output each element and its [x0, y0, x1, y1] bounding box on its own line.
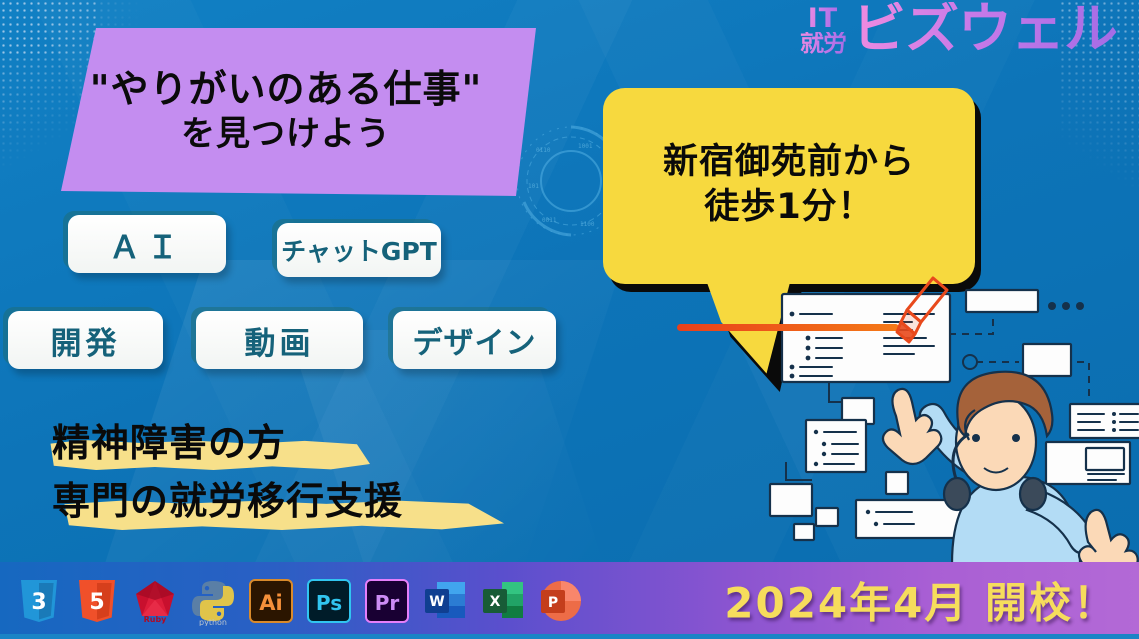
brand-logo: IT 就労 ビズウェル — [800, 2, 1117, 56]
svg-text:5: 5 — [89, 590, 104, 615]
speech-bubble-line-2: 徒歩1分！ — [704, 184, 873, 231]
svg-text:Ai: Ai — [259, 591, 282, 615]
highlighter-pen-icon — [893, 272, 951, 348]
marker-headline-line-1: 精神障害の方 — [52, 412, 286, 467]
python-icon: python — [188, 576, 238, 626]
promo-banner: 01101001 010101 00111100 IT 就労 ビズウェル "やり… — [0, 0, 1139, 639]
logo-it-text: IT — [808, 6, 838, 32]
svg-text:Ps: Ps — [316, 591, 342, 615]
tag-douga[interactable]: 動画 — [196, 311, 363, 369]
bottom-accent-line — [0, 634, 1139, 639]
speech-bubble: 新宿御苑前から 徒歩1分！ — [601, 86, 983, 366]
speech-bubble-underline — [677, 324, 899, 331]
svg-text:Ruby: Ruby — [144, 615, 168, 624]
svg-text:0110: 0110 — [536, 147, 551, 154]
opening-date-text: 2024年4月 開校！ — [724, 569, 1117, 630]
logo-main-text: ビズウェル — [852, 2, 1117, 56]
microsoft-powerpoint-icon: P — [536, 576, 586, 626]
svg-text:1001: 1001 — [578, 143, 593, 150]
ruby-icon: Ruby — [130, 576, 180, 626]
svg-text:W: W — [429, 594, 444, 610]
headline-line-1: "やりがいのある仕事" — [90, 68, 483, 112]
adobe-illustrator-icon: Ai — [246, 576, 296, 626]
tag-design[interactable]: デザイン — [393, 311, 556, 369]
marker-headline-line-2: 専門の就労移行支援 — [52, 470, 403, 525]
headline-line-2: を見つけよう — [181, 112, 391, 156]
svg-text:X: X — [490, 594, 501, 610]
tag-chatgpt[interactable]: チャットGPT — [277, 223, 441, 277]
tag-ai[interactable]: ＡＩ — [68, 215, 226, 273]
tech-icon-row: 3 5 Ruby — [0, 576, 586, 626]
svg-text:Pr: Pr — [375, 591, 400, 615]
speech-bubble-text-group: 新宿御苑前から 徒歩1分！ — [603, 88, 975, 284]
svg-text:3: 3 — [31, 590, 46, 615]
logo-shuro-text: 就労 — [800, 32, 846, 55]
tag-kaihatsu[interactable]: 開発 — [8, 311, 163, 369]
svg-text:python: python — [199, 618, 227, 626]
svg-text:1100: 1100 — [580, 221, 595, 228]
adobe-premiere-icon: Pr — [362, 576, 412, 626]
bottom-bar: 3 5 Ruby — [0, 562, 1139, 639]
svg-text:0011: 0011 — [542, 217, 557, 224]
microsoft-word-icon: W — [420, 576, 470, 626]
marker-headline-group: 精神障害の方 専門の就労移行支援 — [44, 404, 514, 528]
microsoft-excel-icon: X — [478, 576, 528, 626]
html5-icon: 5 — [72, 576, 122, 626]
logo-it-block: IT 就労 — [800, 2, 846, 54]
svg-text:P: P — [548, 595, 558, 611]
headline-text-group: "やりがいのある仕事" を見つけよう — [36, 28, 536, 196]
css3-icon: 3 — [14, 576, 64, 626]
speech-bubble-line-1: 新宿御苑前から — [663, 141, 915, 185]
adobe-photoshop-icon: Ps — [304, 576, 354, 626]
